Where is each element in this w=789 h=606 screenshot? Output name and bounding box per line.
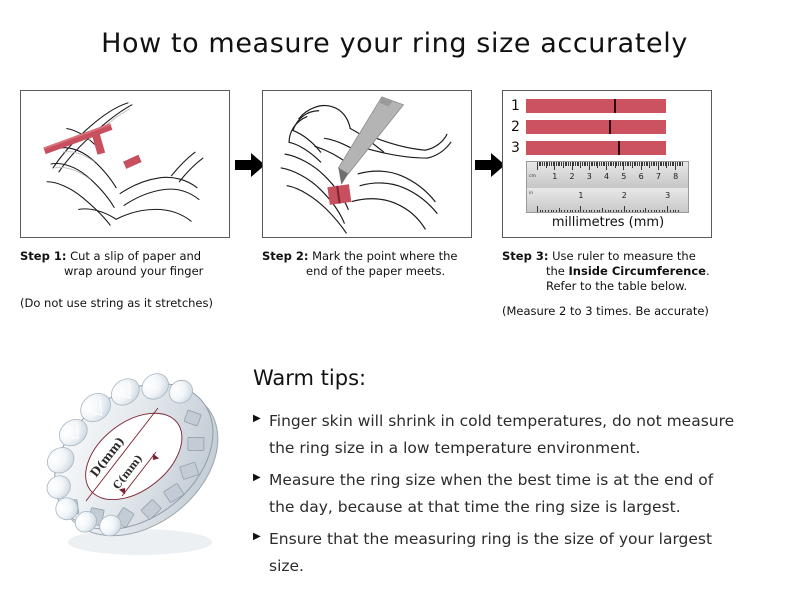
triangle-bullet-icon: ▶ xyxy=(253,526,269,542)
step-1-panel xyxy=(20,90,230,238)
step-3-text-line2: the Inside Circumference. xyxy=(502,264,718,279)
ruler-tick xyxy=(654,210,655,213)
ruler-tick xyxy=(564,210,565,213)
ruler-tick xyxy=(537,206,538,213)
step-3-caption: Step 3: Use ruler to measure the the Ins… xyxy=(502,249,718,294)
ruler-tick xyxy=(567,210,568,213)
ruler-tick xyxy=(648,210,649,213)
triangle-bullet-icon: ▶ xyxy=(253,408,269,424)
ruler-tick xyxy=(637,210,638,213)
ruler-tick xyxy=(556,210,557,213)
ruler-tick xyxy=(551,210,552,213)
strip-tick-mark xyxy=(609,120,611,134)
tip-item: ▶ Finger skin will shrink in cold temper… xyxy=(253,408,773,462)
step-2-label: Step 2: xyxy=(262,249,308,263)
tip-item: ▶ Ensure that the measuring ring is the … xyxy=(253,526,773,580)
ruler-tick xyxy=(586,210,587,213)
tip-text: Ensure that the measuring ring is the si… xyxy=(269,526,739,580)
ruler-cm-number: 2 xyxy=(570,173,575,181)
ruler-tick xyxy=(589,210,590,213)
strip-number-3: 3 xyxy=(511,141,526,155)
strip-number-2: 2 xyxy=(511,120,526,134)
ruler-cm-number: 8 xyxy=(673,173,678,181)
ruler-tick xyxy=(662,210,663,213)
ruler-tick xyxy=(602,208,603,213)
eternity-ring-icon: D(mm) C(mm) xyxy=(22,356,248,566)
step-2-caption: Step 2: Mark the point where the end of … xyxy=(262,249,478,279)
ruler-tick xyxy=(667,206,668,213)
ruler-tick xyxy=(561,210,562,213)
step-1-caption: Step 1: Cut a slip of paper and wrap aro… xyxy=(20,249,236,279)
ruler-tick xyxy=(626,210,627,213)
ruler-tick xyxy=(545,210,546,213)
step-2-column: Step 2: Mark the point where the end of … xyxy=(262,90,474,296)
ruler-tick xyxy=(621,210,622,213)
step-3-label: Step 3: xyxy=(502,249,548,263)
ruler-tick xyxy=(645,208,646,213)
ruler-inch-number: 1 xyxy=(578,192,583,200)
ruler-tick xyxy=(580,206,581,213)
step-2-text: Mark the point where the xyxy=(312,249,457,263)
ruler-cm-unit: cm xyxy=(529,174,536,179)
step-1-label: Step 1: xyxy=(20,249,66,263)
ruler-tick xyxy=(618,210,619,213)
measured-strip-1: 1 xyxy=(511,99,666,113)
ruler-tick xyxy=(616,210,617,213)
strip-bar-3 xyxy=(526,141,666,155)
ruler-cm-number: 5 xyxy=(621,173,626,181)
ruler-tick xyxy=(599,210,600,213)
ruler-tick xyxy=(605,210,606,213)
step-1-column: Step 1: Cut a slip of paper and wrap aro… xyxy=(20,90,232,310)
ruler-cm-number: 4 xyxy=(604,173,609,181)
ruler-tick xyxy=(610,210,611,213)
ruler-tick xyxy=(553,210,554,213)
hand-with-paper-strip-icon xyxy=(21,91,229,237)
ruler-tick xyxy=(591,210,592,213)
ruler-inch-number: 3 xyxy=(665,192,670,200)
ruler-cm-scale: cm 12345678 xyxy=(527,162,688,189)
step-2-text-line2: end of the paper meets. xyxy=(262,264,478,279)
ruler-tick xyxy=(656,210,657,213)
steps-row: Step 1: Cut a slip of paper and wrap aro… xyxy=(0,90,789,340)
step-3-line2-tail: . xyxy=(706,264,710,278)
ruler-tick xyxy=(629,210,630,213)
ruler-tick xyxy=(682,162,683,166)
ruler-tick xyxy=(608,210,609,213)
ruler-tick xyxy=(624,206,625,213)
warm-tips-block: Warm tips: ▶ Finger skin will shrink in … xyxy=(253,366,773,585)
tip-item: ▶ Measure the ring size when the best ti… xyxy=(253,467,773,521)
ruler-cm-number: 7 xyxy=(656,173,661,181)
ruler-tick xyxy=(594,210,595,213)
warm-tips-heading: Warm tips: xyxy=(253,366,773,390)
ruler-tick xyxy=(542,210,543,213)
step-3-note: (Measure 2 to 3 times. Be accurate) xyxy=(502,304,732,318)
ruler-tick xyxy=(572,210,573,213)
measured-strip-2: 2 xyxy=(511,120,666,134)
step-1-text: Cut a slip of paper and xyxy=(70,249,201,263)
ruler-tick xyxy=(613,210,614,213)
ruler-tick xyxy=(578,210,579,213)
ruler-tick xyxy=(583,210,584,213)
ruler-inch-scale: in 123 xyxy=(527,188,688,213)
page-title: How to measure your ring size accurately xyxy=(0,28,789,59)
ring-illustration: D(mm) C(mm) xyxy=(22,356,248,566)
paper-strip-wrapped-2 xyxy=(123,155,142,169)
ruler-tick xyxy=(640,210,641,213)
inside-circumference-emphasis: Inside Circumference xyxy=(569,264,706,278)
hand-marking-paper-icon xyxy=(263,91,471,237)
ruler-tick xyxy=(673,210,674,213)
ruler-inch-unit: in xyxy=(529,191,533,196)
ruler-tick xyxy=(651,210,652,213)
strip-tick-mark xyxy=(614,99,616,113)
paper-strip-marked xyxy=(327,184,351,205)
tip-text: Finger skin will shrink in cold temperat… xyxy=(269,408,739,462)
ruler-tick xyxy=(570,210,571,213)
ruler-tick xyxy=(597,210,598,213)
strip-tick-mark xyxy=(618,141,620,155)
ruler-tick xyxy=(548,210,549,213)
step-1-text-line2: wrap around your finger xyxy=(20,264,236,279)
strip-bar-1 xyxy=(526,99,666,113)
ruler-cm-number: 1 xyxy=(552,173,557,181)
ruler-tick xyxy=(632,210,633,213)
step-3-panel: 1 2 3 cm 12345678 xyxy=(502,90,712,238)
ruler-cm-number: 3 xyxy=(587,173,592,181)
ruler-tick xyxy=(635,210,636,213)
ruler-tick xyxy=(664,210,665,213)
step-3-line2-prefix: the xyxy=(546,264,569,278)
measured-strip-3: 3 xyxy=(511,141,666,155)
ruler-tick xyxy=(670,210,671,213)
step-3-column: 1 2 3 cm 12345678 xyxy=(502,90,714,318)
triangle-bullet-icon: ▶ xyxy=(253,467,269,483)
ruler-inch-number: 2 xyxy=(622,192,627,200)
ruler-tick xyxy=(678,210,679,213)
ruler-tick xyxy=(675,210,676,213)
step-3-text: Use ruler to measure the xyxy=(552,249,696,263)
step-3-text-line3: Refer to the table below. xyxy=(502,279,718,294)
ruler-cm-number: 6 xyxy=(639,173,644,181)
step-1-note: (Do not use string as it stretches) xyxy=(20,296,250,310)
millimetre-label: millimetres (mm) xyxy=(503,215,712,230)
ruler-graphic: cm 12345678 in 123 xyxy=(526,161,689,213)
ruler-tick xyxy=(643,210,644,213)
tip-text: Measure the ring size when the best time… xyxy=(269,467,739,521)
lower-section: D(mm) C(mm) Warm tips: ▶ Finger skin wil… xyxy=(0,348,789,606)
ruler-tick xyxy=(540,210,541,213)
strip-bar-2 xyxy=(526,120,666,134)
ruler-tick xyxy=(575,210,576,213)
strip-number-1: 1 xyxy=(511,99,526,113)
ruler-tick xyxy=(559,208,560,213)
step-2-panel xyxy=(262,90,472,238)
ruler-tick xyxy=(659,210,660,213)
